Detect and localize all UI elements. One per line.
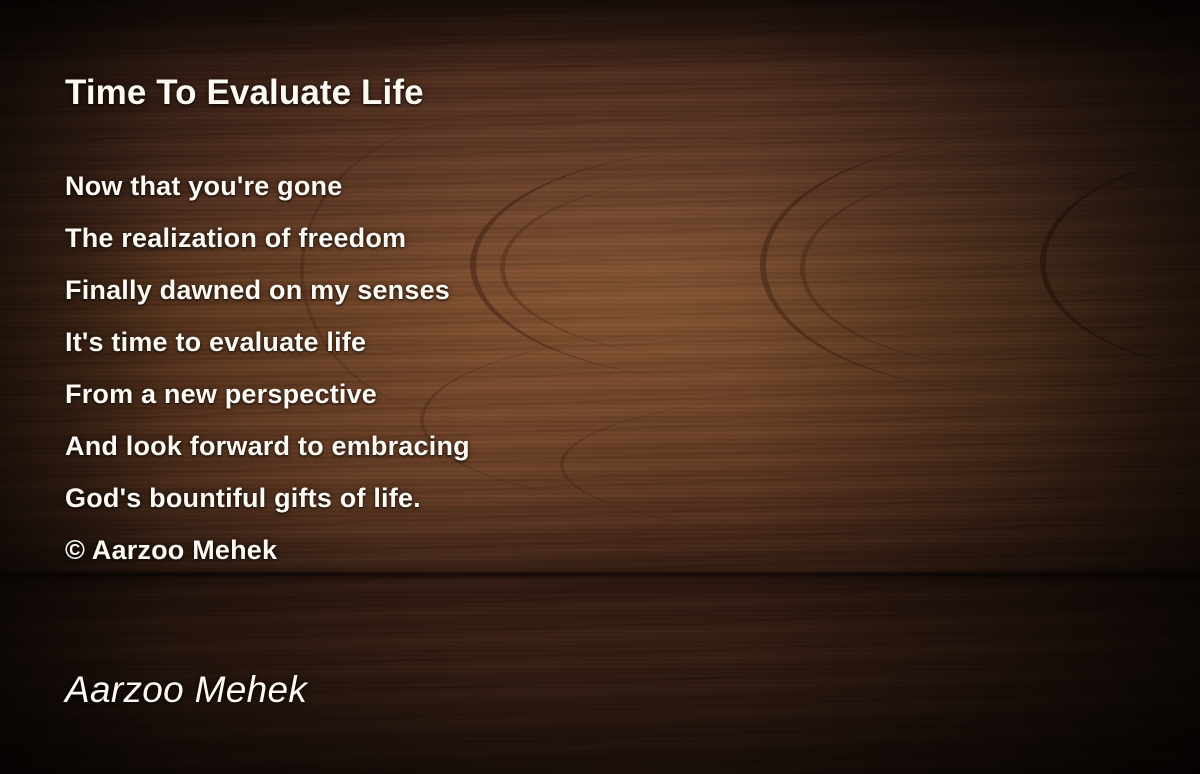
copyright-credit: © Aarzoo Mehek: [65, 524, 965, 576]
page-title: Time To Evaluate Life: [65, 73, 424, 113]
poem-line: And look forward to embracing: [65, 420, 965, 472]
poem-line: Now that you're gone: [65, 160, 965, 212]
poem-image-card: Time To Evaluate Life Now that you're go…: [0, 0, 1200, 774]
author-signature: Aarzoo Mehek: [65, 669, 307, 711]
poem-line: From a new perspective: [65, 368, 965, 420]
poem-body: Now that you're gone The realization of …: [65, 160, 965, 576]
poem-content: Time To Evaluate Life Now that you're go…: [0, 0, 1200, 774]
poem-line: God's bountiful gifts of life.: [65, 472, 965, 524]
poem-line: Finally dawned on my senses: [65, 264, 965, 316]
poem-line: The realization of freedom: [65, 212, 965, 264]
poem-line: It's time to evaluate life: [65, 316, 965, 368]
